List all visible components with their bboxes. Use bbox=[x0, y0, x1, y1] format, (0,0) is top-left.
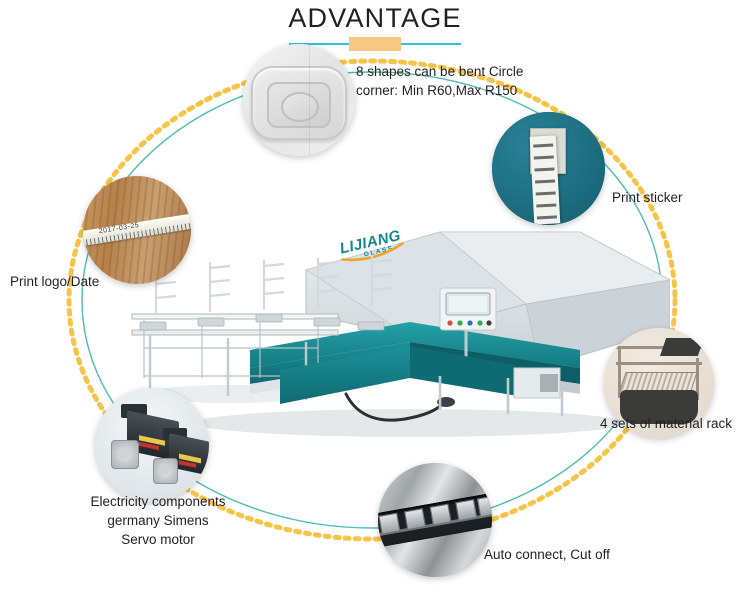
feature-photo-print-logo-date: 2017-03-25 bbox=[83, 176, 191, 284]
caption-material-rack: 4 sets of material rack bbox=[600, 414, 732, 433]
caption-line: corner: Min R60,Max R150 bbox=[356, 81, 576, 100]
feature-photo-auto-connect bbox=[378, 463, 492, 577]
caption-line: 4 sets of material rack bbox=[600, 414, 732, 433]
feature-photo-print-sticker bbox=[492, 112, 605, 225]
caption-print-logo-date: Print logo/Date bbox=[10, 272, 99, 291]
caption-line: Electricity components bbox=[58, 492, 258, 511]
caption-line: Print sticker bbox=[612, 188, 683, 207]
caption-bent-shapes: 8 shapes can be bent Circle corner: Min … bbox=[356, 62, 576, 100]
feature-photo-servo-motor bbox=[95, 388, 209, 502]
advantage-infographic: ADVANTAGE bbox=[0, 0, 750, 596]
caption-line: 8 shapes can be bent Circle bbox=[356, 62, 576, 81]
caption-servo-motor: Electricity components germany Simens Se… bbox=[58, 492, 258, 549]
caption-line: Servo motor bbox=[58, 530, 258, 549]
caption-line: Auto connect, Cut off bbox=[484, 545, 610, 564]
caption-line: Print logo/Date bbox=[10, 272, 99, 291]
caption-auto-connect: Auto connect, Cut off bbox=[484, 545, 610, 564]
feature-photo-bent-shapes bbox=[243, 44, 355, 156]
caption-print-sticker: Print sticker bbox=[612, 188, 683, 207]
caption-line: germany Simens bbox=[58, 511, 258, 530]
